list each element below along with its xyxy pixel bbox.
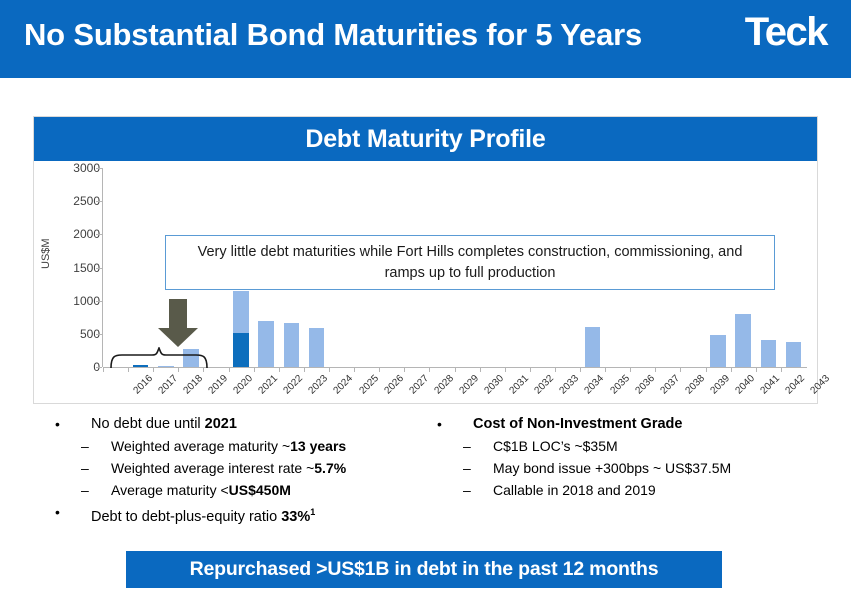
y-tick-label: 1000 bbox=[54, 294, 100, 308]
x-tick-label: 2028 bbox=[432, 373, 456, 397]
x-tick-mark bbox=[480, 367, 481, 372]
y-axis-tick-labels: 050010001500200025003000 bbox=[54, 161, 100, 367]
y-tick-label: 2500 bbox=[54, 194, 100, 208]
y-tick-label: 0 bbox=[54, 360, 100, 374]
x-tick-label: 2042 bbox=[784, 373, 808, 397]
x-tick-mark bbox=[781, 367, 782, 372]
x-tick-label: 2025 bbox=[357, 373, 381, 397]
chart-plot-wrapper: US$M 050010001500200025003000 2016201720… bbox=[34, 161, 817, 403]
y-axis-title: US$M bbox=[40, 238, 52, 269]
x-tick-mark bbox=[229, 367, 230, 372]
bar-segment bbox=[258, 321, 274, 367]
bullet-section: No debt due until 2021Weighted average m… bbox=[33, 414, 823, 532]
y-tick-mark bbox=[96, 201, 102, 202]
x-tick-label: 2031 bbox=[508, 373, 532, 397]
chart-panel: Debt Maturity Profile US$M 0500100015002… bbox=[33, 116, 818, 404]
bar-2035 bbox=[585, 327, 601, 367]
bar-2041 bbox=[735, 314, 751, 367]
x-tick-label: 2033 bbox=[558, 373, 582, 397]
x-tick-mark bbox=[354, 367, 355, 372]
x-tick-label: 2020 bbox=[231, 373, 255, 397]
y-tick-label: 500 bbox=[54, 327, 100, 341]
bar-segment bbox=[233, 291, 249, 333]
x-tick-label: 2034 bbox=[583, 373, 607, 397]
x-tick-mark bbox=[254, 367, 255, 372]
x-tick-label: 2021 bbox=[257, 373, 281, 397]
footer-text: Repurchased >US$1B in debt in the past 1… bbox=[190, 558, 659, 581]
bar-2023 bbox=[284, 323, 300, 367]
x-tick-mark bbox=[530, 367, 531, 372]
bar-segment bbox=[284, 323, 300, 367]
bar-segment bbox=[585, 327, 601, 367]
x-tick-label: 2027 bbox=[407, 373, 431, 397]
bar-segment bbox=[309, 328, 325, 367]
bullet-item: Debt to debt-plus-equity ratio 33%1 bbox=[55, 502, 440, 527]
x-tick-mark bbox=[429, 367, 430, 372]
x-tick-mark bbox=[505, 367, 506, 372]
bar-2040 bbox=[710, 335, 726, 368]
x-tick-label: 2022 bbox=[282, 373, 306, 397]
x-tick-mark bbox=[680, 367, 681, 372]
y-tick-label: 1500 bbox=[54, 261, 100, 275]
teck-logo: Teck bbox=[745, 12, 827, 52]
x-tick-label: 2024 bbox=[332, 373, 356, 397]
x-tick-mark bbox=[329, 367, 330, 372]
x-tick-label: 2038 bbox=[683, 373, 707, 397]
y-tick-label: 2000 bbox=[54, 227, 100, 241]
y-tick-mark bbox=[96, 268, 102, 269]
chart-title: Debt Maturity Profile bbox=[305, 125, 545, 154]
footer-banner: Repurchased >US$1B in debt in the past 1… bbox=[126, 551, 722, 588]
bar-segment bbox=[735, 314, 751, 367]
x-tick-label: 2037 bbox=[658, 373, 682, 397]
x-tick-label: 2036 bbox=[633, 373, 657, 397]
sub-bullet-item: Average maturity <US$450M bbox=[55, 480, 440, 500]
x-tick-mark bbox=[655, 367, 656, 372]
x-tick-mark bbox=[706, 367, 707, 372]
x-tick-label: 2030 bbox=[483, 373, 507, 397]
x-tick-label: 2023 bbox=[307, 373, 331, 397]
y-tick-mark bbox=[96, 301, 102, 302]
x-tick-mark bbox=[731, 367, 732, 372]
curly-brace-icon bbox=[110, 347, 208, 374]
x-tick-mark bbox=[756, 367, 757, 372]
x-tick-mark bbox=[555, 367, 556, 372]
x-tick-mark bbox=[580, 367, 581, 372]
bullet-item: Cost of Non-Investment Grade bbox=[437, 414, 822, 434]
x-tick-mark bbox=[404, 367, 405, 372]
x-tick-label: 2040 bbox=[734, 373, 758, 397]
bullet-item: No debt due until 2021 bbox=[55, 414, 440, 434]
x-tick-label: 2018 bbox=[181, 373, 205, 397]
x-tick-label: 2026 bbox=[382, 373, 406, 397]
bar-segment bbox=[233, 333, 249, 367]
y-tick-mark bbox=[96, 334, 102, 335]
y-tick-mark bbox=[96, 168, 102, 169]
bar-2042 bbox=[761, 340, 777, 367]
sub-bullet-item: Callable in 2018 and 2019 bbox=[437, 480, 822, 500]
y-tick-mark bbox=[96, 234, 102, 235]
bar-2043 bbox=[786, 342, 802, 367]
page-title: No Substantial Bond Maturities for 5 Yea… bbox=[24, 17, 642, 53]
bar-2021 bbox=[233, 291, 249, 367]
sub-bullet-item: May bond issue +300bps ~ US$37.5M bbox=[437, 458, 822, 478]
bar-segment bbox=[710, 335, 726, 368]
x-tick-mark bbox=[128, 367, 129, 372]
bullet-column-left: No debt due until 2021Weighted average m… bbox=[55, 414, 440, 529]
x-tick-label: 2016 bbox=[131, 373, 155, 397]
x-tick-mark bbox=[605, 367, 606, 372]
down-arrow-icon bbox=[156, 299, 200, 354]
x-tick-mark bbox=[178, 367, 179, 372]
bullet-column-right: Cost of Non-Investment GradeC$1B LOC’s ~… bbox=[437, 414, 822, 502]
sub-bullet-item: C$1B LOC’s ~$35M bbox=[437, 436, 822, 456]
x-tick-mark bbox=[103, 367, 104, 372]
x-tick-mark bbox=[279, 367, 280, 372]
bar-2024 bbox=[309, 328, 325, 367]
bar-segment bbox=[761, 340, 777, 367]
x-tick-label: 2019 bbox=[206, 373, 230, 397]
x-tick-label: 2039 bbox=[709, 373, 733, 397]
callout-box: Very little debt maturities while Fort H… bbox=[165, 235, 775, 290]
x-tick-label: 2041 bbox=[759, 373, 783, 397]
x-tick-label: 2043 bbox=[809, 373, 833, 397]
x-tick-mark bbox=[203, 367, 204, 372]
chart-title-bar: Debt Maturity Profile bbox=[34, 117, 817, 161]
sub-bullet-item: Weighted average interest rate ~5.7% bbox=[55, 458, 440, 478]
sub-bullet-item: Weighted average maturity ~13 years bbox=[55, 436, 440, 456]
x-tick-label: 2029 bbox=[457, 373, 481, 397]
bar-segment bbox=[786, 342, 802, 367]
x-tick-mark bbox=[304, 367, 305, 372]
callout-text: Very little debt maturities while Fort H… bbox=[176, 242, 764, 283]
x-tick-label: 2017 bbox=[156, 373, 180, 397]
y-tick-mark bbox=[96, 367, 102, 368]
slide-header: No Substantial Bond Maturities for 5 Yea… bbox=[0, 0, 851, 78]
x-tick-mark bbox=[153, 367, 154, 372]
x-tick-label: 2035 bbox=[608, 373, 632, 397]
x-tick-label: 2032 bbox=[533, 373, 557, 397]
x-tick-mark bbox=[379, 367, 380, 372]
x-tick-mark bbox=[455, 367, 456, 372]
y-tick-label: 3000 bbox=[54, 161, 100, 175]
bar-2022 bbox=[258, 321, 274, 367]
x-tick-mark bbox=[630, 367, 631, 372]
